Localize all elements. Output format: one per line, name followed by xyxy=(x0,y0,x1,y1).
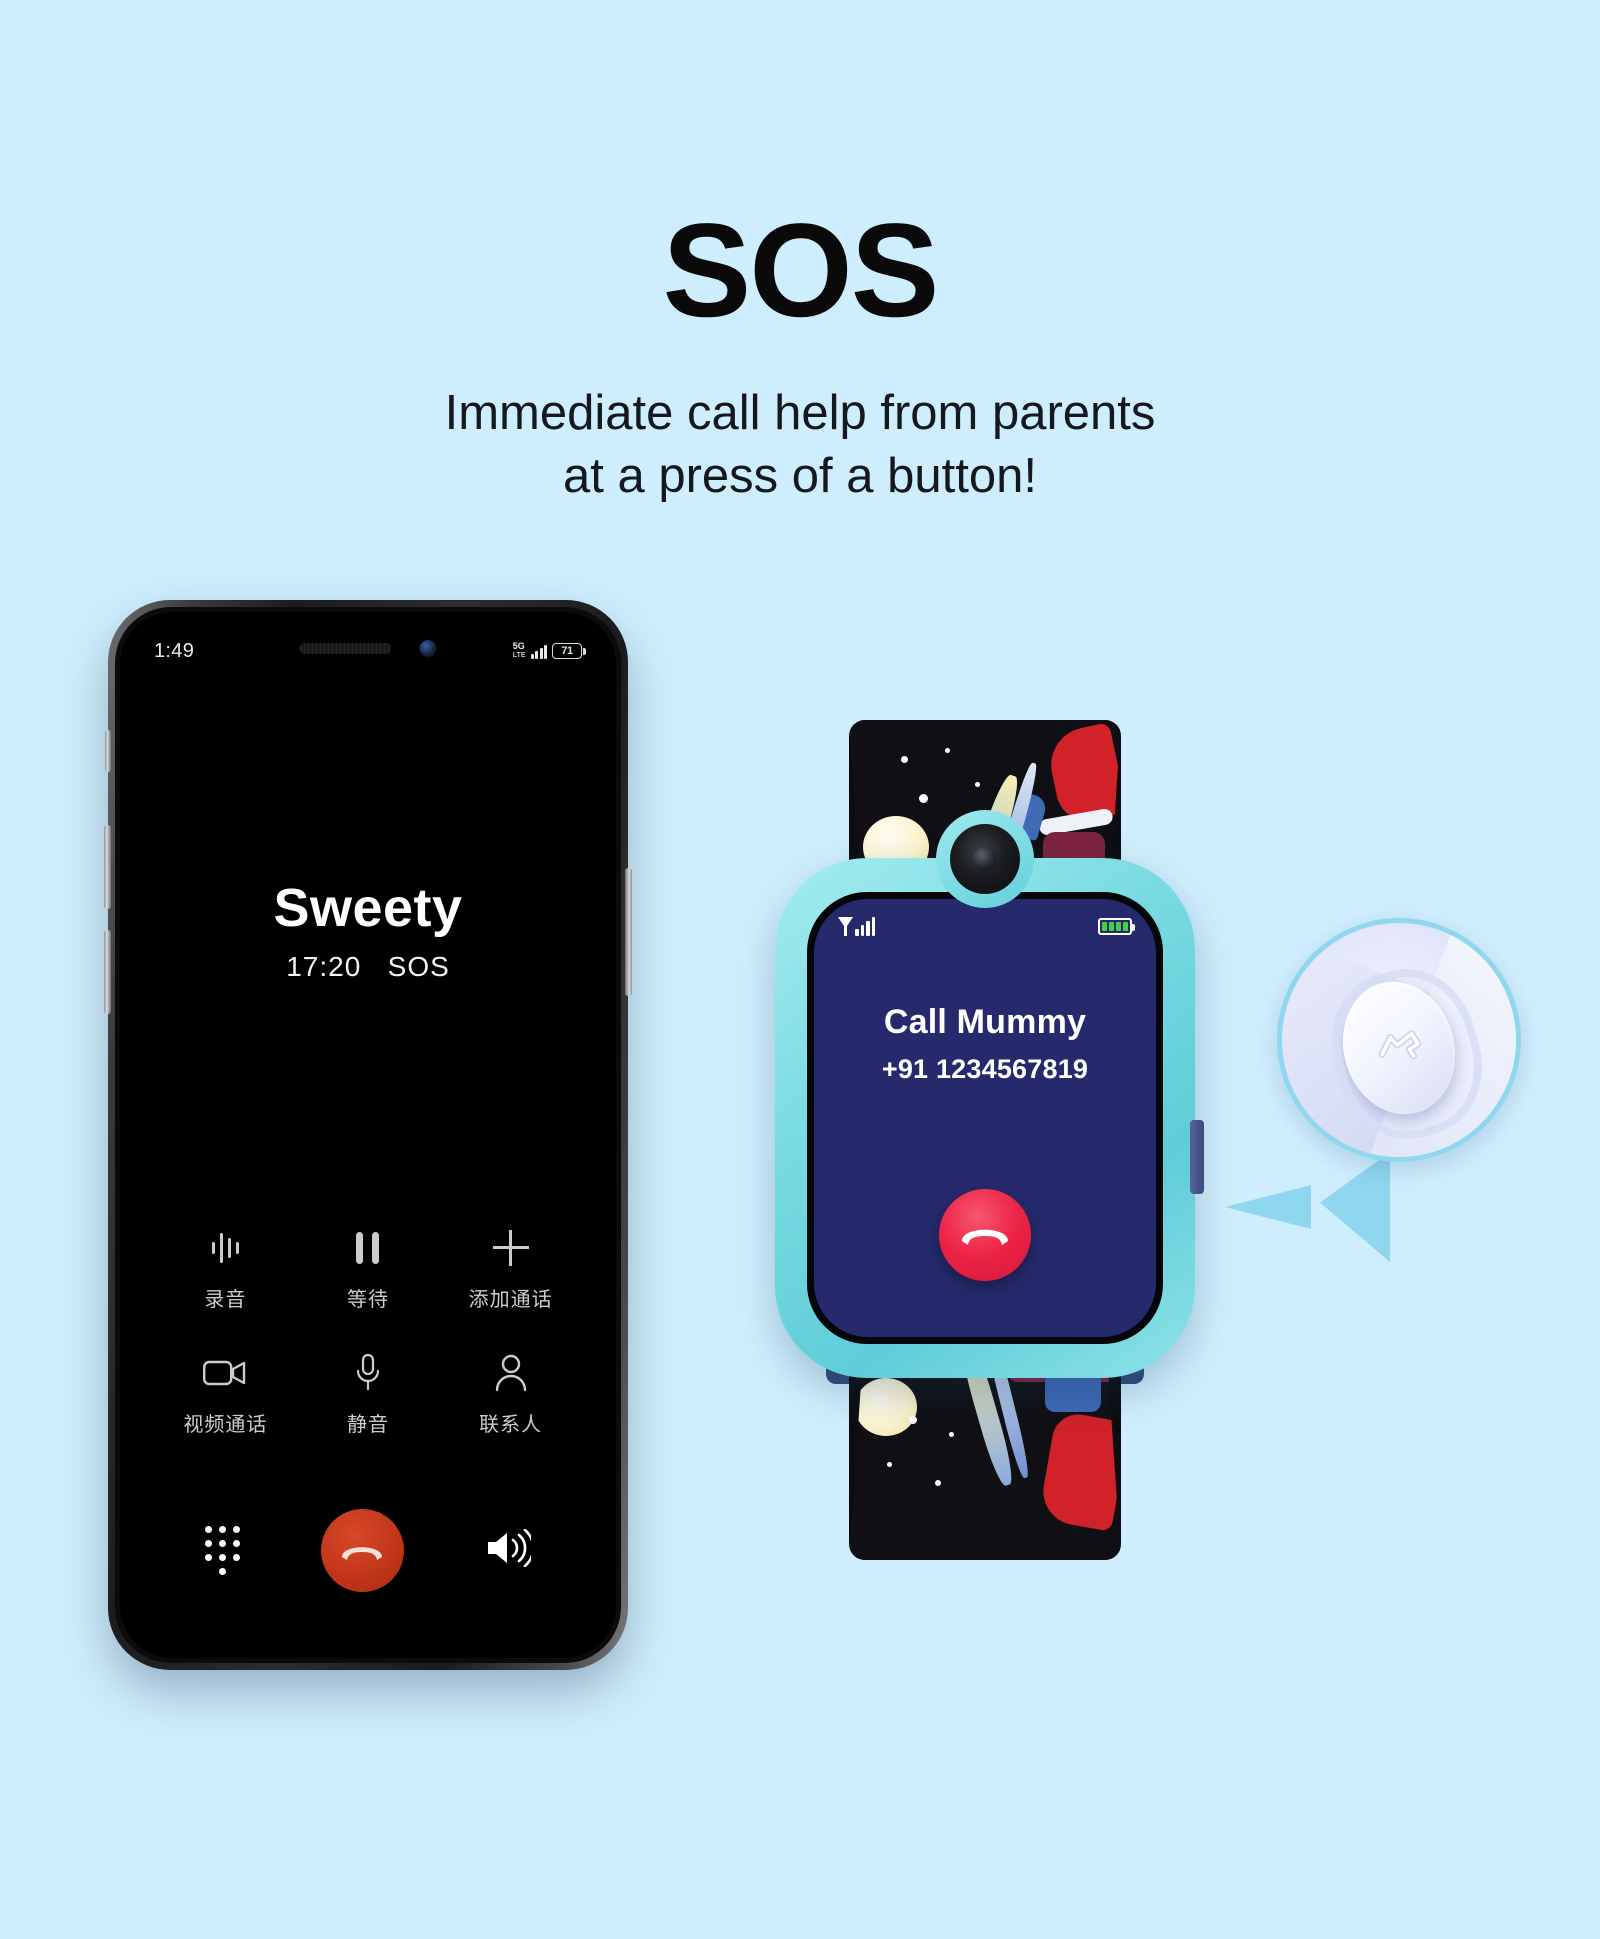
action-add-call[interactable]: 添加通话 xyxy=(439,1227,582,1312)
action-mute[interactable]: 静音 xyxy=(297,1352,440,1437)
watch-screen-bezel: Call Mummy +91 1234567819 xyxy=(807,892,1163,1344)
end-call-button[interactable] xyxy=(321,1509,404,1592)
phone-caller-info: Sweety 17:20 SOS xyxy=(120,877,616,983)
action-label: 添加通话 xyxy=(469,1283,553,1312)
call-type-label: SOS xyxy=(388,951,450,982)
subtitle-line-2: at a press of a button! xyxy=(0,445,1600,508)
action-hold[interactable]: 等待 xyxy=(297,1227,440,1312)
action-label: 录音 xyxy=(204,1283,246,1312)
battery-full-icon xyxy=(1098,918,1132,935)
phone-volume-down-button[interactable] xyxy=(104,930,111,1014)
phone-status-bar: 1:49 5G LTE 71 xyxy=(120,634,616,668)
add-call-plus-icon xyxy=(493,1227,529,1269)
pause-hold-icon xyxy=(356,1227,379,1269)
battery-icon: 71 xyxy=(552,643,582,659)
phone-screen: 1:49 5G LTE 71 Sweety 17:20 SOS xyxy=(120,612,616,1658)
record-waveform-icon xyxy=(212,1227,239,1269)
speaker-volume-icon xyxy=(485,1529,531,1567)
sos-button-callout xyxy=(1277,918,1521,1162)
microphone-mute-icon xyxy=(355,1352,381,1394)
end-call-handset-icon xyxy=(339,1539,385,1563)
sos-side-button[interactable] xyxy=(1190,1120,1204,1194)
phone-volume-up-button[interactable] xyxy=(104,825,111,909)
video-camera-icon xyxy=(203,1352,247,1394)
smartwatch-device: Call Mummy +91 1234567819 xyxy=(775,720,1195,1560)
action-label: 等待 xyxy=(347,1283,389,1312)
action-record[interactable]: 录音 xyxy=(154,1227,297,1312)
smartphone-device: 1:49 5G LTE 71 Sweety 17:20 SOS xyxy=(108,600,628,1670)
phone-bezel: 1:49 5G LTE 71 Sweety 17:20 SOS xyxy=(115,607,621,1663)
dialpad-icon[interactable] xyxy=(205,1526,240,1575)
watch-screen: Call Mummy +91 1234567819 xyxy=(814,899,1156,1337)
watch-status-bar xyxy=(814,917,1156,936)
camera-lens xyxy=(950,824,1020,894)
phone-mute-switch[interactable] xyxy=(105,730,111,772)
callout-tail xyxy=(1225,1185,1311,1229)
subtitle-line-1: Immediate call help from parents xyxy=(0,382,1600,445)
watch-call-info: Call Mummy +91 1234567819 xyxy=(814,1003,1156,1085)
status-indicators: 5G LTE 71 xyxy=(513,642,582,660)
watch-camera-icon xyxy=(936,810,1034,908)
signal-bars-icon xyxy=(838,917,875,936)
sos-zigzag-icon xyxy=(1371,1016,1439,1080)
action-video-call[interactable]: 视频通话 xyxy=(154,1352,297,1437)
action-label: 视频通话 xyxy=(183,1408,267,1437)
watch-case: Call Mummy +91 1234567819 xyxy=(775,858,1195,1378)
call-actions-grid: 录音 等待 添加通话 xyxy=(120,1227,616,1437)
callout-pointer-tail xyxy=(1320,1152,1390,1262)
call-duration: 17:20 xyxy=(286,951,361,982)
phone-power-button[interactable] xyxy=(625,868,632,996)
sos-button-closeup[interactable] xyxy=(1328,968,1471,1127)
page-subtitle: Immediate call help from parents at a pr… xyxy=(0,382,1600,507)
signal-bars-icon xyxy=(531,644,548,659)
action-label: 静音 xyxy=(347,1408,389,1437)
network-type-label: 5G LTE xyxy=(513,642,526,660)
action-contacts[interactable]: 联系人 xyxy=(439,1352,582,1437)
contacts-person-icon xyxy=(494,1352,528,1394)
phone-call-bottom-bar xyxy=(120,1509,616,1592)
battery-percent-label: 71 xyxy=(561,645,572,657)
end-call-handset-icon xyxy=(959,1222,1011,1248)
speaker-button[interactable] xyxy=(485,1529,531,1572)
watch-call-number: +91 1234567819 xyxy=(814,1054,1156,1085)
status-time: 1:49 xyxy=(154,640,194,663)
watch-end-call-button[interactable] xyxy=(939,1189,1031,1281)
call-status: 17:20 SOS xyxy=(120,951,616,983)
watch-call-title: Call Mummy xyxy=(814,1003,1156,1042)
page-title: SOS xyxy=(0,205,1600,338)
action-label: 联系人 xyxy=(479,1408,542,1437)
caller-name: Sweety xyxy=(120,877,616,939)
